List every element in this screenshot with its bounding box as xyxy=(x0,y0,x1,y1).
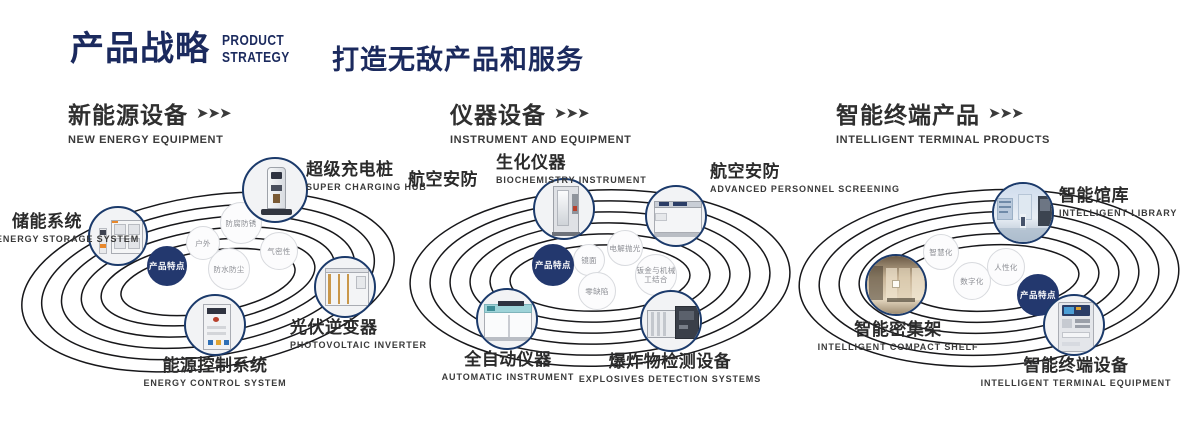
chevrons-icon: ➤➤➤ xyxy=(554,104,589,122)
product-node-automatic-instrument[interactable] xyxy=(476,288,538,350)
node-caption-compact-shelf: 智能密集架 INTELLIGENT COMPACT SHELF xyxy=(793,320,1003,353)
control-cabinet-icon xyxy=(186,296,244,354)
product-node-personnel-screening[interactable] xyxy=(645,185,707,247)
caption-cn: 航空安防 xyxy=(408,170,498,190)
section-title-en: INTELLIGENT TERMINAL PRODUCTS xyxy=(836,134,1050,146)
feature-bubble: 气密性 xyxy=(260,232,298,270)
charging-pile-icon xyxy=(244,159,306,221)
center-badge-label: 产品特点 xyxy=(149,261,185,271)
feature-bubble: 零缺陷 xyxy=(578,272,616,310)
library-room-icon xyxy=(994,184,1052,242)
caption-en: INTELLIGENT LIBRARY xyxy=(1059,208,1199,219)
product-node-intelligent-library[interactable] xyxy=(992,182,1054,244)
caption-cn: 智能密集架 xyxy=(793,320,1003,340)
section-heading-new-energy: 新能源设备➤➤➤ NEW ENERGY EQUIPMENT xyxy=(68,96,231,146)
compact-shelf-icon xyxy=(867,256,925,314)
section-title-cn: 新能源设备 xyxy=(68,96,188,130)
scanner-gate-icon xyxy=(535,180,593,238)
page-title-en: PRODUCT STRATEGY xyxy=(222,32,290,66)
detection-unit-icon xyxy=(642,292,700,350)
screening-machine-icon xyxy=(647,187,705,245)
section-title-cn: 仪器设备 xyxy=(450,96,546,130)
feature-bubble: 防水防尘 xyxy=(208,248,250,290)
header: 产品战略 PRODUCT STRATEGY 打造无敌产品和服务 xyxy=(0,0,1200,88)
feature-bubble: 人性化 xyxy=(987,248,1025,286)
product-node-energy-control[interactable] xyxy=(184,294,246,356)
feature-bubble: 数字化 xyxy=(953,262,991,300)
caption-cn: 全自动仪器 xyxy=(410,350,606,370)
inverter-cabinet-icon xyxy=(316,258,374,316)
cluster-instrument: 航空安防 镜面 电解抛光 零缺陷 钣金与机械工结合 产品特点 生化仪器 BIOC… xyxy=(400,150,800,405)
product-node-pv-inverter[interactable] xyxy=(314,256,376,318)
caption-en: INTELLIGENT COMPACT SHELF xyxy=(793,342,1003,353)
node-caption-energy-control: 能源控制系统 ENERGY CONTROL SYSTEM xyxy=(78,356,352,389)
center-badge-label: 产品特点 xyxy=(535,260,571,270)
caption-en: BIOCHEMISTRY INSTRUMENT xyxy=(496,175,616,186)
feature-bubble: 电解抛光 xyxy=(607,230,643,266)
center-badge: 产品特点 xyxy=(147,246,187,286)
product-node-terminal-equipment[interactable] xyxy=(1043,294,1105,356)
page-title-en-line1: PRODUCT xyxy=(222,32,290,49)
chevrons-icon: ➤➤➤ xyxy=(988,104,1023,122)
section-title-en: INSTRUMENT AND EQUIPMENT xyxy=(450,134,631,146)
caption-cn: 储能系统 xyxy=(0,212,82,232)
cluster-new-energy: 户外 防腐防锈 防水防尘 气密性 产品特点 储能系统 ENERGY STORAG… xyxy=(8,150,408,405)
caption-en: AUTOMATIC INSTRUMENT xyxy=(410,372,606,383)
node-caption-intelligent-library: 智能馆库 INTELLIGENT LIBRARY xyxy=(1059,186,1199,219)
product-strategy-infographic: 产品战略 PRODUCT STRATEGY 打造无敌产品和服务 新能源设备➤➤➤… xyxy=(0,0,1200,422)
extra-label-aviation-security: 航空安防 xyxy=(408,170,498,190)
node-caption-terminal-equipment: 智能终端设备 INTELLIGENT TERMINAL EQUIPMENT xyxy=(961,356,1191,389)
caption-cn: 能源控制系统 xyxy=(78,356,352,376)
caption-en: INTELLIGENT TERMINAL EQUIPMENT xyxy=(961,378,1191,389)
section-title-en: NEW ENERGY EQUIPMENT xyxy=(68,134,231,146)
feature-bubble: 镜面 xyxy=(573,244,605,276)
caption-en: ENERGY STORAGE SYSTEM xyxy=(0,234,82,245)
kiosk-terminal-icon xyxy=(1045,296,1103,354)
feature-bubble: 智慧化 xyxy=(923,234,959,270)
section-title-cn: 智能终端产品 xyxy=(836,96,980,130)
caption-cn: 智能馆库 xyxy=(1059,186,1199,206)
page-title: 产品战略 xyxy=(70,30,210,68)
product-node-charging-hub[interactable] xyxy=(242,157,308,223)
page-title-en-line2: STRATEGY xyxy=(222,49,290,66)
caption-cn: 生化仪器 xyxy=(496,153,616,173)
node-caption-energy-storage: 储能系统 ENERGY STORAGE SYSTEM xyxy=(0,212,82,245)
product-node-explosives-detection[interactable] xyxy=(640,290,702,352)
caption-en: ENERGY CONTROL SYSTEM xyxy=(78,378,352,389)
section-heading-intelligent-terminal: 智能终端产品➤➤➤ INTELLIGENT TERMINAL PRODUCTS xyxy=(836,96,1050,146)
page-subtitle: 打造无敌产品和服务 xyxy=(332,38,584,77)
center-badge: 产品特点 xyxy=(532,244,574,286)
node-caption-automatic-instrument: 全自动仪器 AUTOMATIC INSTRUMENT xyxy=(410,350,606,383)
auto-analyzer-icon xyxy=(478,290,536,348)
product-node-compact-shelf[interactable] xyxy=(865,254,927,316)
node-caption-biochemistry: 生化仪器 BIOCHEMISTRY INSTRUMENT xyxy=(496,153,616,186)
section-heading-instrument: 仪器设备➤➤➤ INSTRUMENT AND EQUIPMENT xyxy=(450,96,631,146)
caption-cn: 智能终端设备 xyxy=(961,356,1191,376)
chevrons-icon: ➤➤➤ xyxy=(196,104,231,122)
product-node-biochemistry[interactable] xyxy=(533,178,595,240)
cluster-intelligent-terminal: 智慧化 数字化 人性化 产品特点 智能馆库 INTELLIG xyxy=(793,150,1193,405)
